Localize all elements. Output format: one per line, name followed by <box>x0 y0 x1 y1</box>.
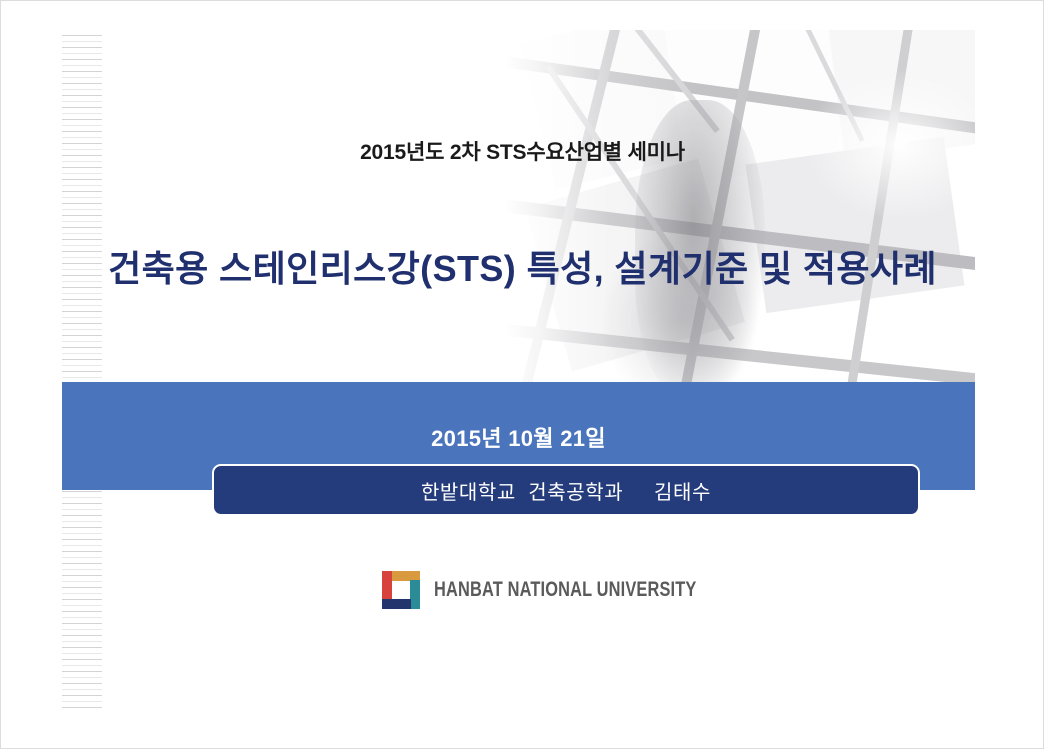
presentation-date: 2015년 10월 21일 <box>62 421 975 453</box>
architecture-background-photo <box>505 30 975 382</box>
pinwheel-square-icon <box>382 571 420 609</box>
presenter-plaque: 한밭대학교 건축공학과 김태수 <box>212 464 920 516</box>
pinwheel-left-bar <box>382 571 392 600</box>
presenter-affiliation-and-name: 한밭대학교 건축공학과 김태수 <box>421 476 711 505</box>
pinwheel-right-bar <box>410 580 420 609</box>
photo-artwork <box>505 30 975 382</box>
page-title: 건축용 스테인리스강(STS) 특성, 설계기준 및 적용사례 <box>0 240 1045 292</box>
university-logo: HANBAT NATIONAL UNIVERSITY <box>382 568 771 612</box>
pinwheel-bottom-bar <box>382 599 411 609</box>
title-slide: 2015년도 2차 STS수요산업별 세미나 건축용 스테인리스강(STS) 특… <box>0 0 1045 750</box>
university-logo-text: HANBAT NATIONAL UNIVERSITY <box>434 578 697 602</box>
pinwheel-center <box>392 581 410 599</box>
seminar-subtitle: 2015년도 2차 STS수요산업별 세미나 <box>0 136 1045 166</box>
